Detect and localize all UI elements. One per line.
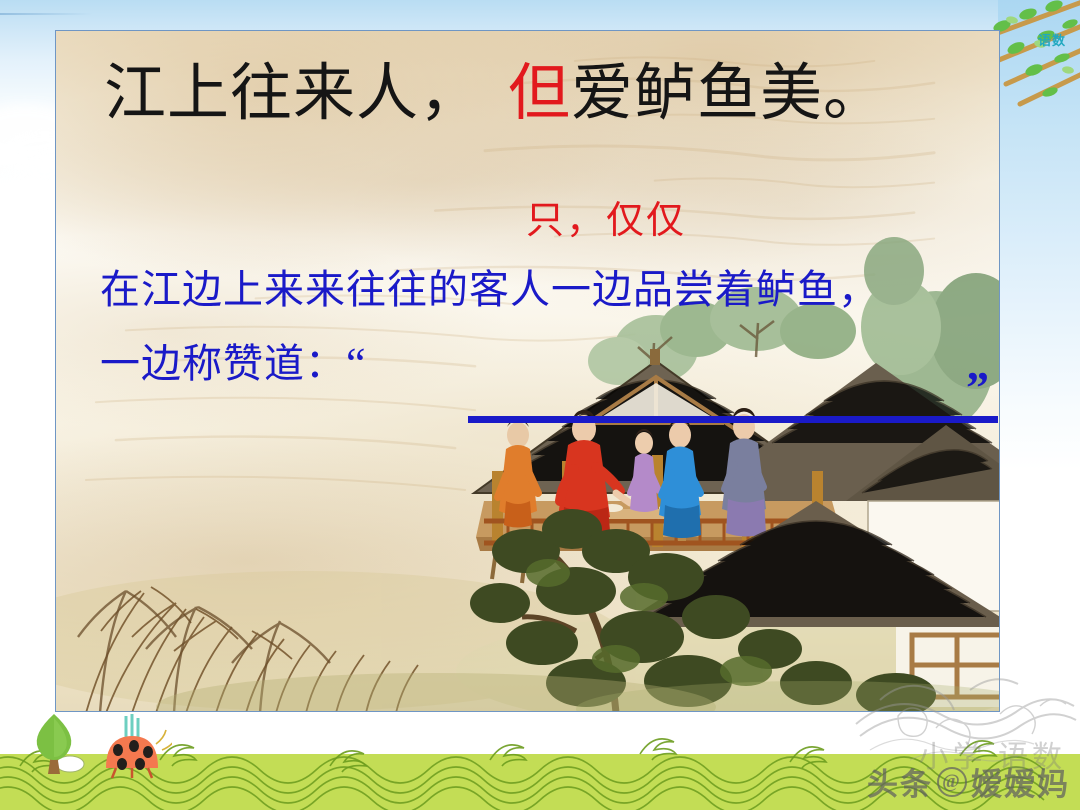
gloss-annotation: 只，仅仅 <box>526 189 686 244</box>
paraphrase-line-1: 在江边上来来往往的客人一边品尝着鲈鱼， <box>100 267 879 312</box>
lesson-image-panel: 江上往来人，但爱鲈鱼美。 只，仅仅 在江边上来来往往的客人一边品尝着鲈鱼， 一边… <box>55 30 1000 712</box>
quote-open-mark: “ <box>346 339 367 388</box>
watermark-author: 嫒嫒妈 <box>971 759 1070 804</box>
answer-blank-line[interactable] <box>468 416 998 423</box>
ladybug-icon <box>92 710 172 786</box>
corner-subject-tag: 语数 <box>1038 30 1066 49</box>
at-sign-icon: @ <box>937 767 967 797</box>
panel-text-layer: 江上往来人，但爱鲈鱼美。 只，仅仅 在江边上来来往往的客人一边品尝着鲈鱼， 一边… <box>56 31 999 711</box>
slide-canvas: 语数 <box>0 0 1080 810</box>
quote-close-mark: ” <box>966 361 989 414</box>
poem-title-line: 江上往来人，但爱鲈鱼美。 <box>104 63 964 125</box>
watermark-brand: 头条 <box>867 759 933 804</box>
poem-part-1: 江上往来人， <box>104 60 482 128</box>
sky-streak <box>0 13 92 15</box>
paraphrase-line-2-prefix: 一边称赞道： <box>100 341 346 386</box>
poem-part-2: 爱鲈鱼美。 <box>571 60 886 128</box>
paraphrase-text: 在江边上来来往往的客人一边品尝着鲈鱼， 一边称赞道：“ <box>100 253 1000 401</box>
author-watermark: 头条 @ 嫒嫒妈 <box>867 759 1070 804</box>
poem-highlight-char: 但 <box>508 60 571 128</box>
period-mark: 。 <box>998 391 1000 435</box>
